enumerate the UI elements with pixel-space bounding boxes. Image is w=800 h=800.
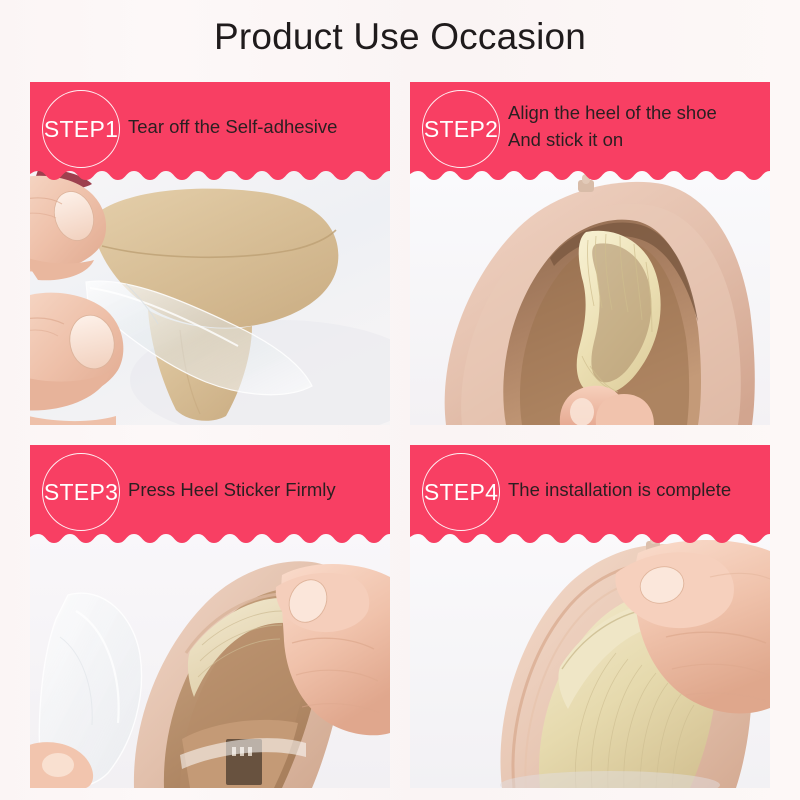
step-text-4: The installation is complete [508,445,766,533]
step-photo-2 [410,170,770,425]
step-badge-label-4: STEP4 [424,481,498,504]
step-panel-4: STEP4 The installation is complete [410,445,770,788]
step-photo-4 [410,533,770,788]
photo-installation-complete [410,533,770,788]
step-panel-1: STEP1 Tear off the Self-adhesive [30,82,390,425]
page-title: Product Use Occasion [0,14,800,60]
step-text-1: Tear off the Self-adhesive [128,82,386,170]
step-text-line-4a: The installation is complete [508,476,766,503]
step-banner-4: STEP4 The installation is complete [410,445,770,533]
step-photo-1 [30,170,390,425]
step-photo-3 [30,533,390,788]
step-badge-label-1: STEP1 [44,118,118,141]
photo-press-pad-firmly [30,533,390,788]
steps-grid: STEP1 Tear off the Self-adhesive [30,82,770,788]
step-badge-label-3: STEP3 [44,481,118,504]
photo-heel-pad-peel [30,170,390,425]
product-use-occasion-infographic: Product Use Occasion STEP1 Tear off the … [0,0,800,800]
step-text-line-2a: Align the heel of the shoe [508,99,766,126]
step-banner-3: STEP3 Press Heel Sticker Firmly [30,445,390,533]
step-badge-3: STEP3 [42,453,120,531]
step-panel-2: STEP2 Align the heel of the shoe And sti… [410,82,770,425]
step-badge-4: STEP4 [422,453,500,531]
step-text-2: Align the heel of the shoe And stick it … [508,82,766,170]
step-badge-1: STEP1 [42,90,120,168]
step-text-3: Press Heel Sticker Firmly [128,445,386,533]
photo-align-pad-in-shoe [410,170,770,425]
step-badge-label-2: STEP2 [424,118,498,141]
step-text-line-2b: And stick it on [508,126,766,153]
step-banner-2: STEP2 Align the heel of the shoe And sti… [410,82,770,170]
step-banner-1: STEP1 Tear off the Self-adhesive [30,82,390,170]
step-text-line-3a: Press Heel Sticker Firmly [128,476,386,503]
step-badge-2: STEP2 [422,90,500,168]
step-text-line-1a: Tear off the Self-adhesive [128,113,386,140]
step-panel-3: STEP3 Press Heel Sticker Firmly [30,445,390,788]
